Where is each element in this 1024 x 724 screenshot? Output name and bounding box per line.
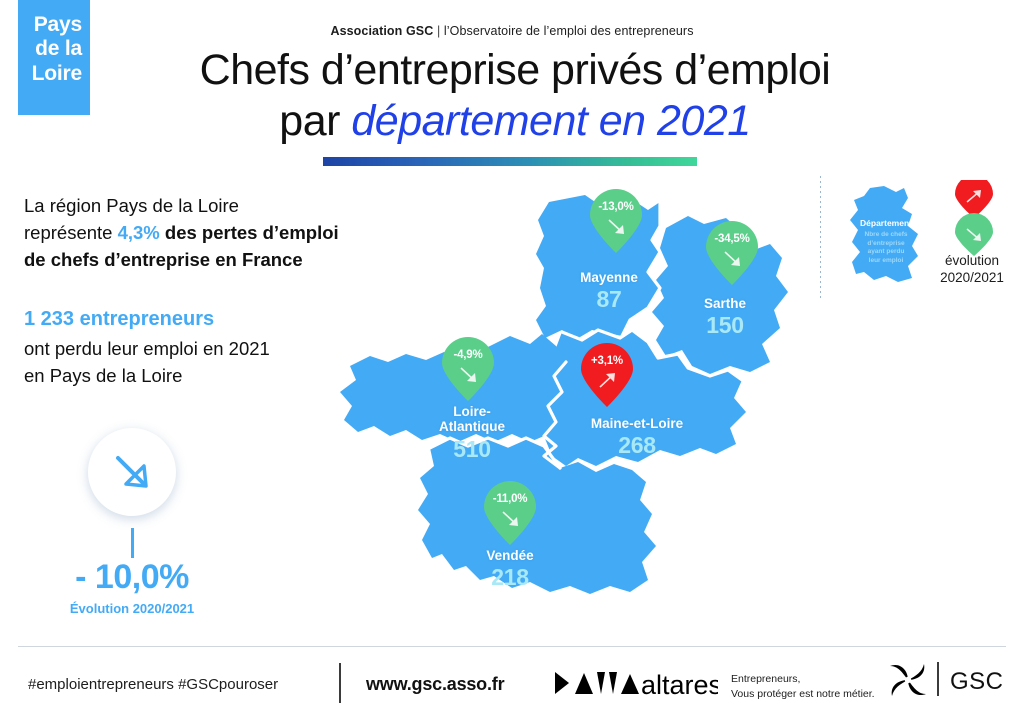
intro-p2-highlight: 1 233 entrepreneurs [24, 308, 214, 330]
legend-pin-down-icon [955, 213, 993, 256]
title-gradient-rule [323, 157, 697, 166]
gsc-pinwheel-icon [886, 660, 930, 700]
dep-value-maine-et-loire: 268 [552, 432, 722, 459]
page-title-accent: département en 2021 [351, 97, 750, 145]
intro-p1-line1: La région Pays de la Loire [24, 195, 239, 216]
pin-vendee[interactable]: -11,0% [482, 480, 538, 546]
altares-wordmark: altares [641, 670, 718, 700]
dep-label-loire-atlantique-l1: Loire- [453, 404, 491, 419]
region-badge-line-3: Loire [32, 62, 82, 85]
dep-value-sarthe: 150 [660, 312, 790, 339]
footer-tagline: Entrepreneurs, Vous protéger est notre m… [731, 672, 875, 702]
legend-sub-l2: d’entreprise [867, 240, 904, 247]
legend-sub-l1: Nbre de chefs [865, 231, 908, 238]
pin-drop-icon [704, 220, 760, 286]
legend-sub-l4: leur emploi [869, 257, 904, 264]
pin-maine-et-loire[interactable]: +3,1% [579, 342, 635, 408]
pin-drop-icon [440, 336, 496, 402]
gsc-logo-divider [937, 662, 939, 696]
region-badge: Pays de la Loire [18, 0, 90, 115]
legend-map-title: Département [846, 218, 926, 228]
evolution-value: - 10,0% [22, 558, 242, 597]
intro-p1-line2-suffix: des pertes d’emploi [160, 222, 339, 243]
dep-label-sarthe: Sarthe [660, 296, 790, 311]
legend-divider [820, 176, 821, 300]
infographic-page: Pays de la Loire Association GSC | l’Obs… [0, 0, 1024, 724]
legend-caption-l1: évolution [945, 253, 999, 268]
altares-logo: altares [553, 668, 718, 705]
footer-tagline-l1: Entrepreneurs, [731, 673, 800, 685]
footer-divider [18, 646, 1006, 647]
legend-pin-icons [947, 180, 1001, 258]
pin-value-sarthe: -34,5% [704, 233, 760, 245]
intro-p1-highlight: 4,3% [118, 222, 160, 243]
page-title-prefix: par [279, 97, 351, 145]
footer-hashtags: #emploientrepreneurs #GSCpouroser [28, 676, 278, 693]
evolution-caption: Évolution 2020/2021 [22, 601, 242, 616]
gsc-wordmark: GSC [950, 668, 1004, 696]
intro-p2-line3: en Pays de la Loire [24, 365, 182, 386]
pin-value-maine-et-loire: +3,1% [579, 355, 635, 367]
evolution-circle [88, 428, 176, 516]
dep-label-loire-atlantique-l2: Atlantique [439, 419, 505, 434]
intro-p1-line3: de chefs d’entreprise en France [24, 249, 303, 270]
dep-label-loire-atlantique: Loire-Atlantique [402, 404, 542, 434]
altares-logo-icon: altares [553, 668, 718, 700]
header-separator: | [437, 24, 440, 38]
legend-caption-l2: 2020/2021 [940, 270, 1004, 285]
pin-mayenne[interactable]: -13,0% [588, 188, 644, 254]
header-brand: Association GSC [330, 24, 433, 38]
page-title-line-1: Chefs d’entreprise privés d’emploi [120, 45, 910, 96]
footer-website-url[interactable]: www.gsc.asso.fr [366, 674, 504, 695]
header-brand-line: Association GSC | l’Observatoire de l’em… [0, 24, 1024, 38]
pin-value-loire-atlantique: -4,9% [440, 349, 496, 361]
page-title-line-2: par département en 2021 [120, 96, 910, 147]
pin-sarthe[interactable]: -34,5% [704, 220, 760, 286]
gsc-logo [886, 660, 930, 705]
legend-map-subtitle: Nbre de chefs d’entreprise ayant perdu l… [846, 231, 926, 266]
header-subtitle: l’Observatoire de l’emploi des entrepren… [444, 24, 694, 38]
dep-value-vendee: 218 [440, 564, 580, 591]
pin-drop-icon [588, 188, 644, 254]
footer-tagline-l2: Vous protéger est notre métier. [731, 688, 875, 700]
page-title: Chefs d’entreprise privés d’emploi par d… [120, 45, 910, 146]
pin-loire-atlantique[interactable]: -4,9% [440, 336, 496, 402]
dep-value-mayenne: 87 [544, 286, 674, 313]
intro-p1-line2-prefix: représente [24, 222, 118, 243]
pin-value-mayenne: -13,0% [588, 201, 644, 213]
region-map: Mayenne 87 Sarthe 150 Loire-Atlantique 5… [330, 180, 830, 610]
legend-pin-up-icon [955, 180, 993, 218]
pin-drop-icon [579, 342, 635, 408]
pin-drop-icon [482, 480, 538, 546]
dep-label-maine-et-loire: Maine-et-Loire [552, 416, 722, 431]
arrow-down-right-icon [88, 428, 176, 516]
evolution-connector [131, 528, 134, 558]
dep-label-mayenne: Mayenne [544, 270, 674, 285]
pin-value-vendee: -11,0% [482, 493, 538, 505]
footer-separator [339, 663, 341, 703]
legend-sub-l3: ayant perdu [868, 248, 905, 255]
legend-caption: évolution 2020/2021 [920, 253, 1024, 287]
region-badge-line-2: de la [35, 37, 82, 60]
intro-p2-line2: ont perdu leur emploi en 2021 [24, 338, 270, 359]
dep-label-vendee: Vendée [440, 548, 580, 563]
legend-pins [947, 180, 1001, 254]
dep-value-loire-atlantique: 510 [402, 436, 542, 463]
